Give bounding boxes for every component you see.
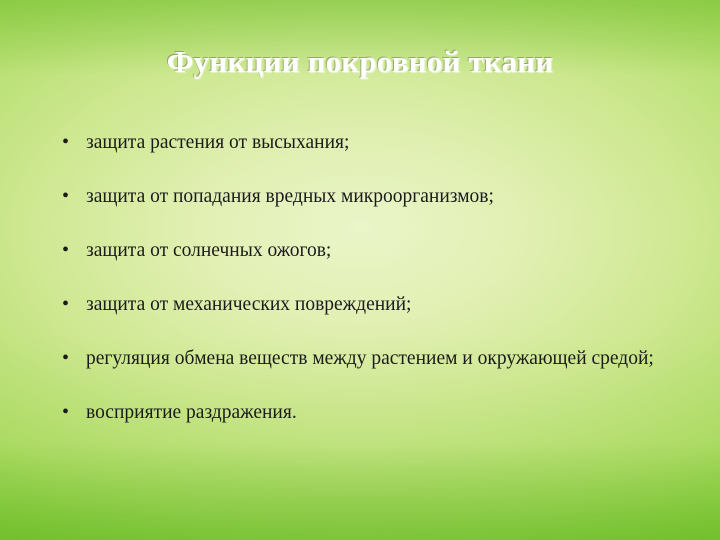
list-item: • защита от механических повреждений; <box>62 290 662 319</box>
list-item-text: защита от солнечных ожогов; <box>82 236 662 265</box>
bullet-list: • защита растения от высыхания; • защита… <box>62 128 662 427</box>
list-item: • защита растения от высыхания; <box>62 128 662 157</box>
list-item-text: регуляция обмена веществ между растением… <box>82 344 662 373</box>
list-item: • восприятие раздражения. <box>62 398 662 427</box>
list-item: • защита от солнечных ожогов; <box>62 236 662 265</box>
list-item: • регуляция обмена веществ между растени… <box>62 344 662 373</box>
list-item-text: восприятие раздражения. <box>82 398 662 427</box>
page-title: Функции покровной ткани <box>0 44 720 80</box>
bullet-icon: • <box>62 344 82 373</box>
list-item: • защита от попадания вредных микроорган… <box>62 182 662 211</box>
list-item-text: защита от механических повреждений; <box>82 290 662 319</box>
bullet-icon: • <box>62 128 82 157</box>
bullet-icon: • <box>62 290 82 319</box>
bullet-icon: • <box>62 236 82 265</box>
list-item-text: защита от попадания вредных микроорганиз… <box>82 182 662 211</box>
slide: Функции покровной ткани • защита растени… <box>0 0 720 540</box>
list-item-text: защита растения от высыхания; <box>82 128 662 157</box>
bullet-icon: • <box>62 182 82 211</box>
bullet-icon: • <box>62 398 82 427</box>
